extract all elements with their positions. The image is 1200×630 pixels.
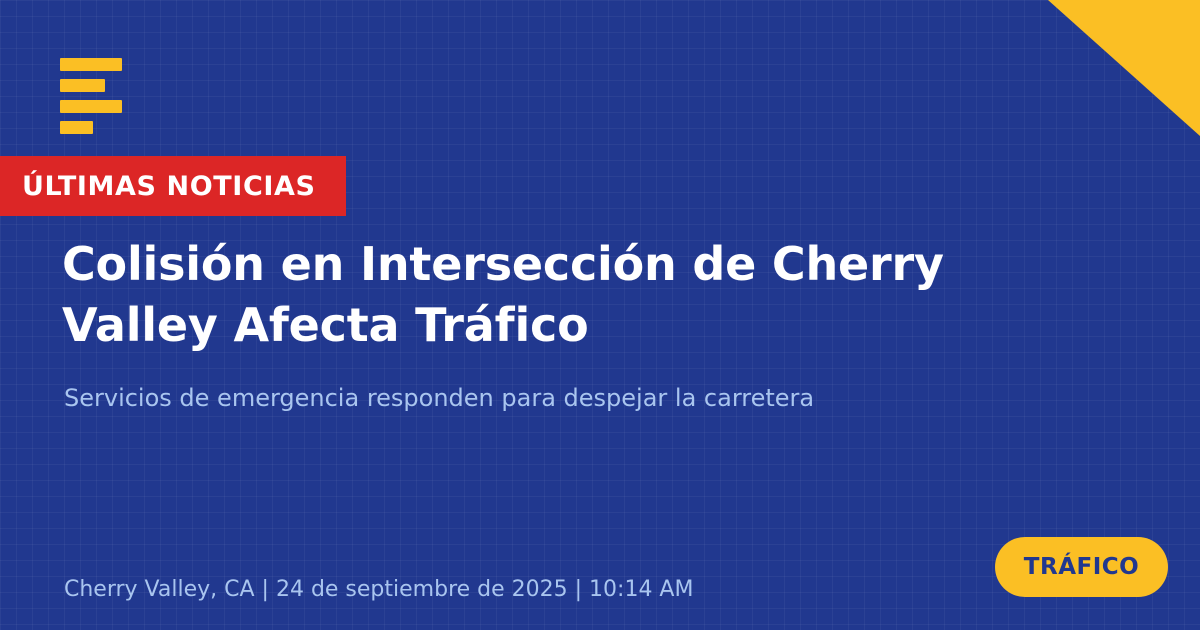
logo-bar-3 — [60, 100, 122, 113]
page-title: Colisión en Intersección de Cherry Valle… — [62, 234, 1072, 356]
category-badge-label: TRÁFICO — [1024, 556, 1139, 579]
news-card: ÚLTIMAS NOTICIAS Colisión en Intersecció… — [0, 0, 1200, 630]
status-badge[interactable]: TRÁFICO — [995, 537, 1168, 597]
article-meta: Cherry Valley, CA | 24 de septiembre de … — [64, 576, 693, 604]
breaking-news-banner: ÚLTIMAS NOTICIAS — [0, 156, 346, 216]
brand-logo[interactable] — [60, 58, 130, 134]
article-subtitle: Servicios de emergencia responden para d… — [64, 381, 1074, 415]
logo-bar-4 — [60, 121, 93, 134]
breaking-news-label: ÚLTIMAS NOTICIAS — [22, 173, 316, 200]
corner-wedge-decoration — [1048, 0, 1200, 136]
logo-bar-2 — [60, 79, 105, 92]
logo-bar-1 — [60, 58, 122, 71]
